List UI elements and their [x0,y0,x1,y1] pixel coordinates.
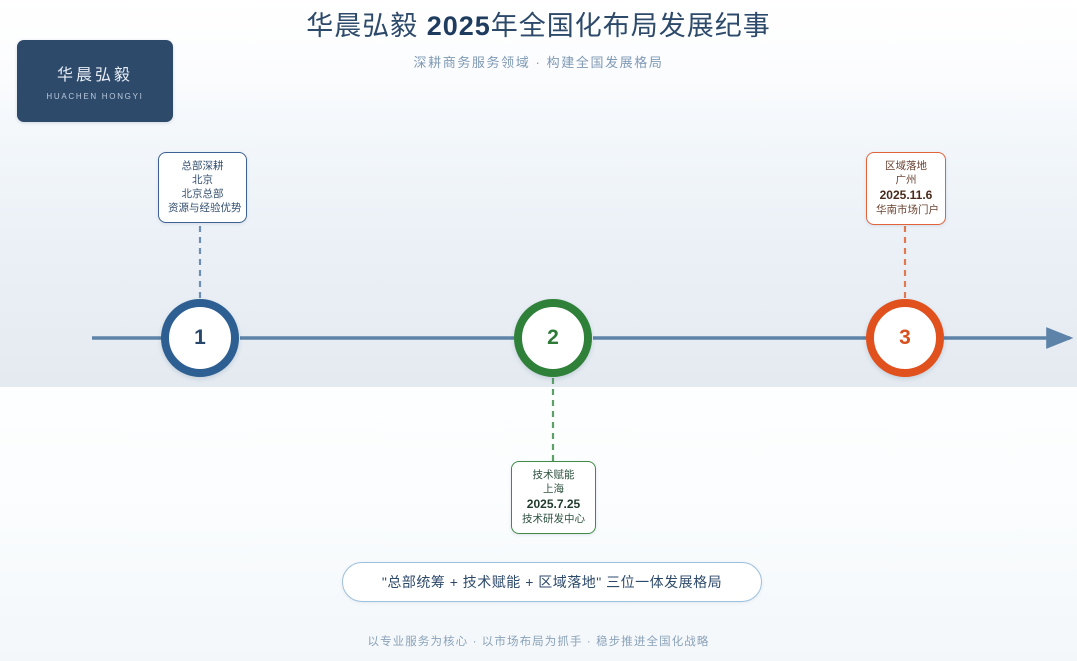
summary-banner: "总部统筹 + 技术赋能 + 区域落地" 三位一体发展格局 [342,562,762,602]
timeline-node-3-number: 3 [899,326,911,350]
timeline-node-2-number: 2 [547,326,559,350]
milestone-card-3-date: 2025.11.6 [876,187,936,203]
milestone-card-3-city: 广州 [876,173,936,187]
milestone-card-1-detail: 资源与经验优势 [168,201,237,215]
brand-logo-name-cn: 华晨弘毅 [57,61,133,85]
brand-logo-name-en: HUACHEN HONGYI [46,92,143,101]
footer-note-text: 以专业服务为核心 · 以市场布局为抓手 · 稳步推进全国化战略 [367,636,709,648]
page-title-year: 2025 [427,11,491,41]
page-title-brand: 华晨弘毅 [306,11,427,41]
page-title-rest: 年全国化布局发展纪事 [491,11,771,41]
milestone-card-1-city: 北京 [168,173,237,187]
timeline-node-1[interactable]: 1 [161,299,239,377]
brand-logo: 华晨弘毅 HUACHEN HONGYI [17,40,173,122]
page-title: 华晨弘毅 2025年全国化布局发展纪事 [0,0,1077,44]
timeline-node-3[interactable]: 3 [866,299,944,377]
summary-banner-text: "总部统筹 + 技术赋能 + 区域落地" 三位一体发展格局 [382,572,722,592]
milestone-card-2-title: 技术赋能 [521,468,586,482]
milestone-card-2-date: 2025.7.25 [521,496,586,512]
milestone-card-2-detail: 技术研发中心 [521,512,586,526]
milestone-card-3[interactable]: 区域落地 广州 2025.11.6 华南市场门户 [866,152,946,225]
milestone-card-1-date: 北京总部 [168,187,237,201]
milestone-card-2[interactable]: 技术赋能 上海 2025.7.25 技术研发中心 [511,461,596,534]
milestone-card-3-title: 区域落地 [876,159,936,173]
footer-note: 以专业服务为核心 · 以市场布局为抓手 · 稳步推进全国化战略 [0,633,1077,649]
milestone-card-1-title: 总部深耕 [168,159,237,173]
timeline-node-2[interactable]: 2 [514,299,592,377]
milestone-card-2-city: 上海 [521,482,586,496]
milestone-card-3-detail: 华南市场门户 [876,203,936,217]
milestone-card-1[interactable]: 总部深耕 北京 北京总部 资源与经验优势 [158,152,247,223]
timeline-node-1-number: 1 [194,326,206,350]
